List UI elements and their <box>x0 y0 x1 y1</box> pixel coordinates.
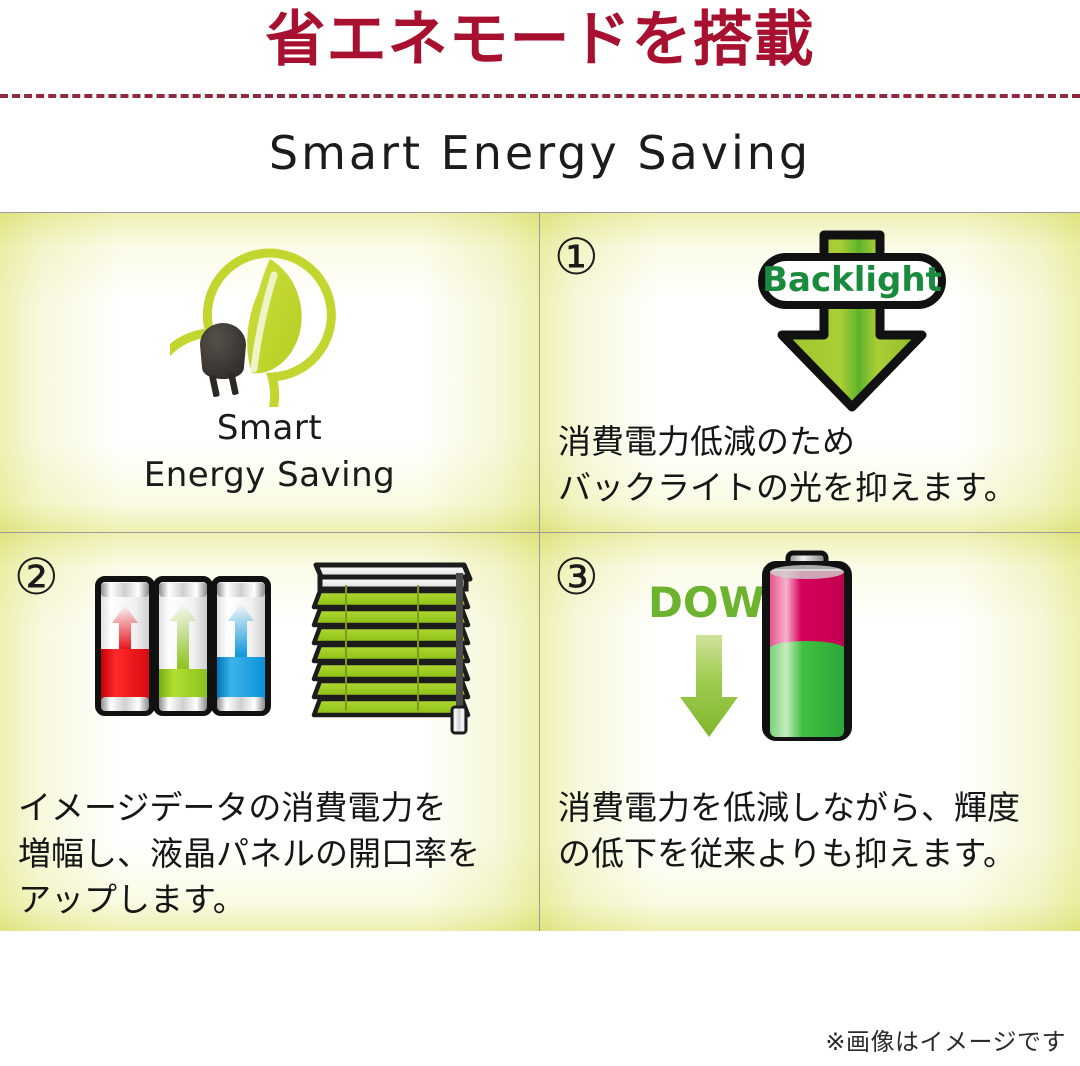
dashed-divider <box>0 94 1080 98</box>
feature-grid: Smart Energy Saving ① <box>0 212 1080 930</box>
backlight-badge-text: Backlight <box>762 260 942 300</box>
venetian-blind-icon <box>306 559 478 735</box>
battery-level-icon <box>752 549 862 745</box>
green-cylinder <box>156 579 210 713</box>
step-number-1: ① <box>554 229 599 285</box>
panel-aperture: ② <box>0 533 540 931</box>
panel-backlight-caption: 消費電力低減のため バックライトの光を抑えます。 <box>558 419 1070 511</box>
page-title: 省エネモードを搭載 <box>0 2 1080 78</box>
logo-caption: Smart Energy Saving <box>0 405 539 499</box>
smart-energy-saving-infographic: 省エネモードを搭載 Smart Energy Saving <box>0 0 1080 1066</box>
rgb-cylinders-icon <box>92 565 274 727</box>
footer-disclaimer: ※画像はイメージです <box>825 1026 1066 1058</box>
panel-aperture-caption: イメージデータの消費電力を 増幅し、液晶パネルの開口率を アップします。 <box>18 785 529 923</box>
header: 省エネモードを搭載 Smart Energy Saving <box>0 0 1080 212</box>
panel-backlight: ① Back <box>540 213 1080 533</box>
step-number-3: ③ <box>554 549 599 605</box>
green-down-arrow-backlight-icon: Backlight <box>740 227 964 415</box>
blue-cylinder <box>214 579 268 713</box>
step-number-2: ② <box>14 549 59 605</box>
smart-energy-saving-leaf-plug-logo <box>170 227 370 407</box>
panel-battery-caption: 消費電力を低減しながら、輝度 の低下を従来よりも抑えます。 <box>558 785 1070 877</box>
page-subtitle: Smart Energy Saving <box>0 122 1080 184</box>
red-cylinder <box>98 579 152 713</box>
panel-battery: ③ DOWN <box>540 533 1080 931</box>
panel-logo: Smart Energy Saving <box>0 213 540 533</box>
